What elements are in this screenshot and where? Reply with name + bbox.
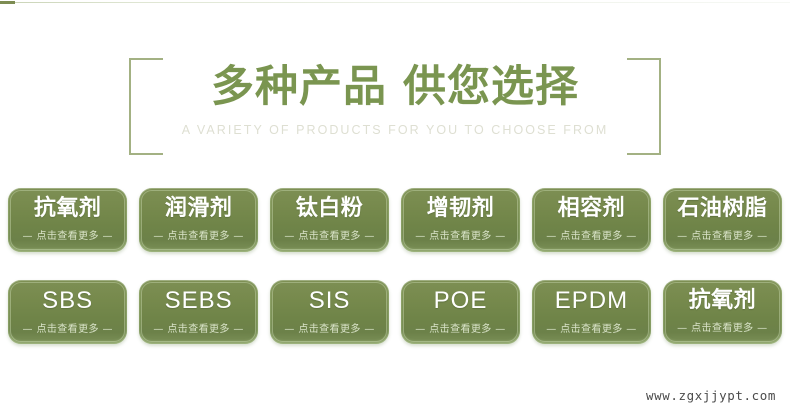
page-title: 多种产品 供您选择 <box>129 66 661 109</box>
product-category-tile[interactable]: SEBS— 点击查看更多 — <box>139 280 258 344</box>
tile-label: 抗氧剂 <box>34 198 102 220</box>
tile-cta-label: — 点击查看更多 — <box>22 320 112 335</box>
tile-cta-label: — 点击查看更多 — <box>677 227 767 242</box>
tile-cta-label: — 点击查看更多 — <box>546 227 636 242</box>
tile-cta-label: — 点击查看更多 — <box>284 227 374 242</box>
product-row: SBS— 点击查看更多 —SEBS— 点击查看更多 —SIS— 点击查看更多 —… <box>8 280 782 344</box>
top-divider-rule <box>0 2 790 3</box>
tile-label: SEBS <box>165 289 233 313</box>
tile-cta-label: — 点击查看更多 — <box>415 320 505 335</box>
page-subtitle: A VARIETY OF PRODUCTS FOR YOU TO CHOOSE … <box>129 123 661 137</box>
tile-label: 相容剂 <box>558 198 626 220</box>
tile-cta-label: — 点击查看更多 — <box>546 320 636 335</box>
product-category-tile[interactable]: 石油树脂— 点击查看更多 — <box>663 188 782 252</box>
product-category-grid: 抗氧剂— 点击查看更多 —润滑剂— 点击查看更多 —钛白粉— 点击查看更多 —增… <box>8 188 782 372</box>
tile-label: 钛白粉 <box>296 198 364 220</box>
tile-label: 润滑剂 <box>165 198 233 220</box>
product-category-tile[interactable]: SIS— 点击查看更多 — <box>270 280 389 344</box>
product-category-tile[interactable]: POE— 点击查看更多 — <box>401 280 520 344</box>
site-watermark: www.zgxjjypt.com <box>646 388 776 403</box>
tile-cta-label: — 点击查看更多 — <box>677 319 767 334</box>
tile-cta-label: — 点击查看更多 — <box>22 227 112 242</box>
tile-label: 抗氧剂 <box>689 290 757 312</box>
tile-label: POE <box>434 289 488 313</box>
heading-text-group: 多种产品 供您选择 A VARIETY OF PRODUCTS FOR YOU … <box>129 52 661 137</box>
tile-label: EPDM <box>555 289 628 313</box>
product-category-tile[interactable]: 抗氧剂— 点击查看更多 — <box>663 280 782 344</box>
product-category-tile[interactable]: SBS— 点击查看更多 — <box>8 280 127 344</box>
tile-label: 增韧剂 <box>427 198 495 220</box>
product-row: 抗氧剂— 点击查看更多 —润滑剂— 点击查看更多 —钛白粉— 点击查看更多 —增… <box>8 188 782 252</box>
product-category-tile[interactable]: 抗氧剂— 点击查看更多 — <box>8 188 127 252</box>
tile-cta-label: — 点击查看更多 — <box>153 320 243 335</box>
product-category-tile[interactable]: 润滑剂— 点击查看更多 — <box>139 188 258 252</box>
tile-cta-label: — 点击查看更多 — <box>284 320 374 335</box>
product-category-tile[interactable]: 相容剂— 点击查看更多 — <box>532 188 651 252</box>
top-left-accent-bar <box>0 1 15 4</box>
product-category-tile[interactable]: EPDM— 点击查看更多 — <box>532 280 651 344</box>
tile-cta-label: — 点击查看更多 — <box>153 227 243 242</box>
heading-banner: 多种产品 供您选择 A VARIETY OF PRODUCTS FOR YOU … <box>0 52 790 162</box>
tile-label: SBS <box>42 289 93 313</box>
tile-cta-label: — 点击查看更多 — <box>415 227 505 242</box>
product-category-tile[interactable]: 增韧剂— 点击查看更多 — <box>401 188 520 252</box>
product-category-tile[interactable]: 钛白粉— 点击查看更多 — <box>270 188 389 252</box>
tile-label: 石油树脂 <box>677 198 767 220</box>
tile-label: SIS <box>309 289 351 313</box>
